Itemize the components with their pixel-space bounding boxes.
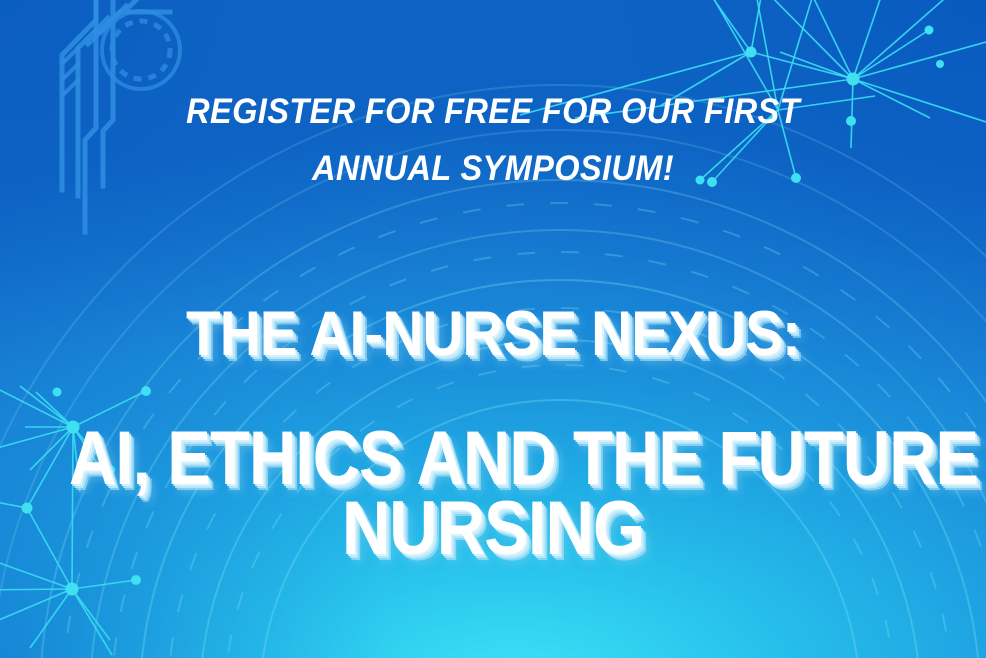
header-block: REGISTER FOR FREE FOR OUR FIRST ANNUAL S…: [0, 84, 986, 197]
page-title-line-3: NURSING: [59, 491, 927, 566]
symposium-poster: REGISTER FOR FREE FOR OUR FIRST ANNUAL S…: [0, 0, 986, 658]
poster-content: REGISTER FOR FREE FOR OUR FIRST ANNUAL S…: [0, 0, 986, 658]
page-title-line-1: THE AI-NURSE NEXUS:: [49, 303, 936, 365]
header-line-1: REGISTER FOR FREE FOR OUR FIRST: [35, 84, 952, 141]
title-block: THE AI-NURSE NEXUS: AI, ETHICS AND THE F…: [0, 303, 986, 566]
header-line-2: ANNUAL SYMPOSIUM!: [35, 141, 952, 198]
